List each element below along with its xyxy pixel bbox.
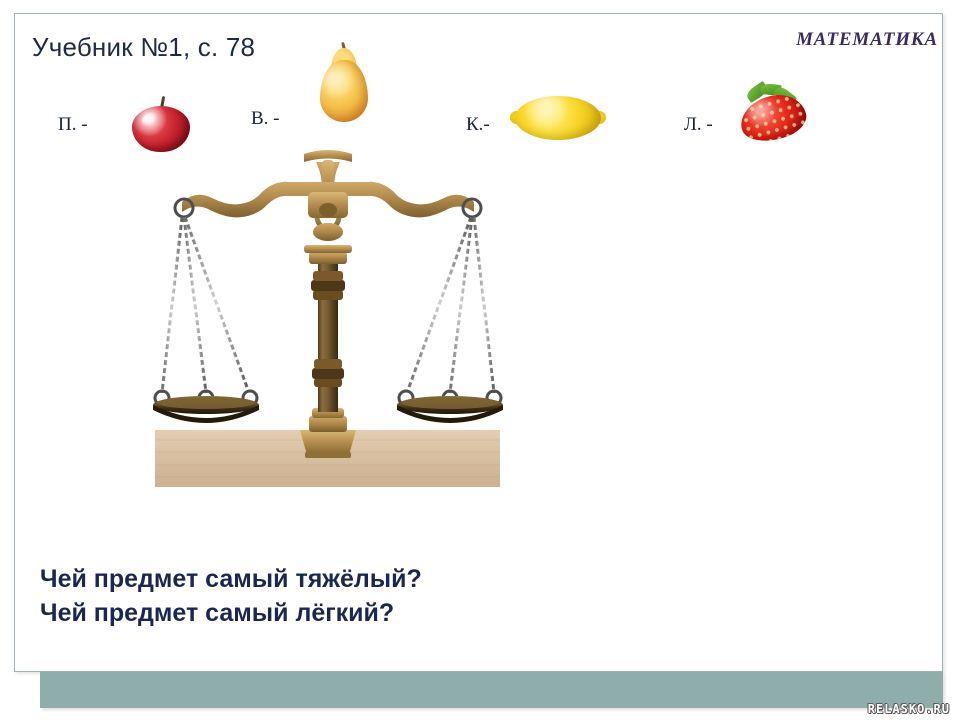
question-line-heaviest: Чей предмет самый тяжёлый?	[40, 563, 680, 597]
question-block: Чей предмет самый тяжёлый? Чей предмет с…	[40, 563, 680, 631]
scale-base	[300, 408, 356, 458]
strawberry-icon	[728, 82, 812, 144]
right-chains	[408, 217, 494, 393]
fruit-label-lemon: К.-	[466, 114, 490, 136]
lemon-icon	[510, 90, 606, 144]
fruit-label-strawberry: Л. -	[684, 114, 713, 136]
footer-accent-band	[40, 672, 943, 708]
fruit-legend-row: П. - В. - К.-	[0, 62, 960, 142]
fruit-label-apple: П. -	[58, 114, 88, 136]
pear-body-icon	[320, 60, 368, 122]
right-pan	[397, 391, 503, 423]
scale-column	[304, 245, 352, 412]
slide-canvas: Учебник №1, с. 78 МАТЕМАТИКА П. - В. - К…	[0, 0, 960, 720]
fruit-label-pear: В. -	[251, 108, 280, 130]
question-line-lightest: Чей предмет самый лёгкий?	[40, 597, 680, 631]
balance-scale-image	[148, 140, 508, 490]
left-chains	[162, 217, 248, 393]
pear-icon	[314, 42, 374, 124]
lemon-body-icon	[515, 96, 601, 140]
left-pan	[153, 391, 259, 423]
subject-title: МАТЕМАТИКА	[796, 29, 938, 51]
book-reference-label: Учебник №1, с. 78	[32, 32, 255, 63]
scale-beam	[182, 182, 474, 218]
watermark-label: RELASKO.RU	[868, 702, 950, 716]
